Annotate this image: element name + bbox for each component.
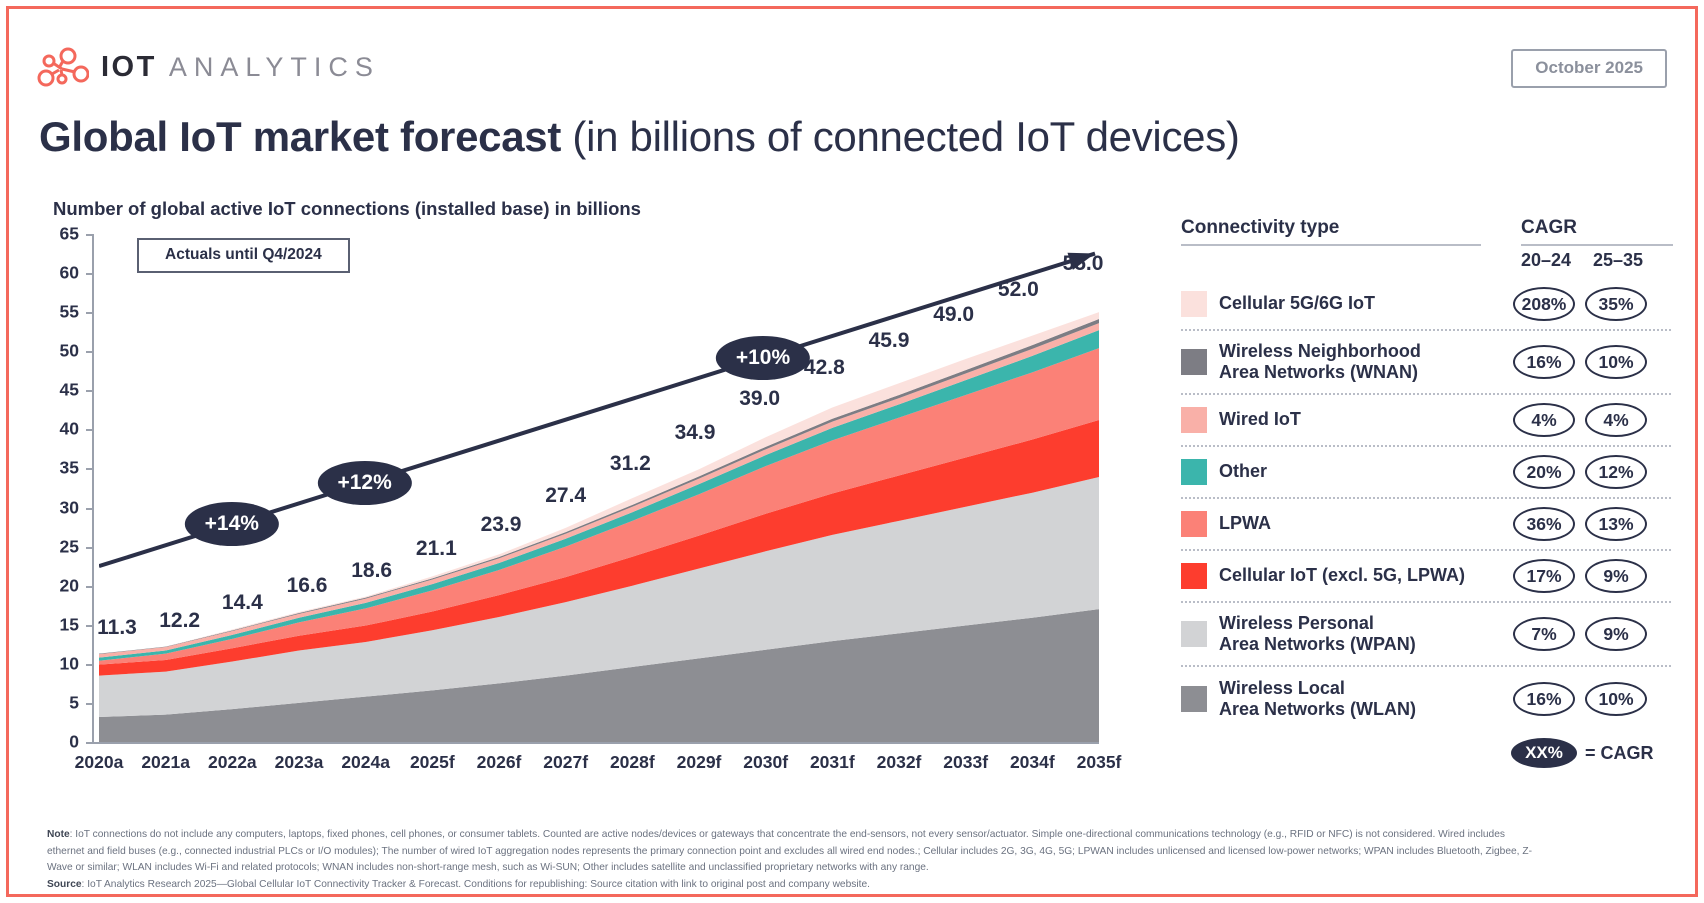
iot-analytics-logo-icon	[37, 47, 89, 87]
legend-color-swatch	[1181, 511, 1207, 537]
x-axis-tick-label: 2024a	[341, 752, 390, 773]
cagr-value-25-35: 13%	[1585, 507, 1647, 541]
x-axis-tick-label: 2027f	[543, 752, 588, 773]
logo-text-primary: IOT	[101, 51, 157, 84]
page-title-bold: Global IoT market forecast	[39, 113, 561, 160]
legend-row[interactable]: Wireless PersonalArea Networks (WPAN)7%9…	[1181, 603, 1671, 667]
y-axis-tick-mark	[86, 468, 94, 470]
stacked-area-plot	[99, 234, 1099, 742]
legend-header-rule-right	[1521, 244, 1673, 246]
x-axis-tick-label: 2025f	[410, 752, 455, 773]
cagr-value-20-24: 7%	[1513, 617, 1575, 651]
footnote-source-text: : IoT Analytics Research 2025—Global Cel…	[82, 879, 870, 890]
x-axis-tick-label: 2020a	[75, 752, 124, 773]
legend-key-label: = CAGR	[1585, 743, 1654, 764]
legend-color-swatch	[1181, 686, 1207, 712]
legend-row[interactable]: LPWA36%13%	[1181, 499, 1671, 551]
logo-text-secondary: ANALYTICS	[169, 52, 380, 83]
page-title-light: (in billions of connected IoT devices)	[561, 113, 1240, 160]
cagr-value-25-35: 35%	[1585, 287, 1647, 321]
plot-svg	[99, 234, 1099, 742]
y-axis-tick-label: 45	[45, 380, 79, 401]
y-axis-tick-mark	[86, 312, 94, 314]
legend-item-label: Cellular IoT (excl. 5G, LPWA)	[1219, 565, 1499, 586]
legend-header: Connectivity type CAGR 20–24 25–35	[1181, 217, 1671, 279]
cagr-value-20-24: 20%	[1513, 455, 1575, 489]
legend-color-swatch	[1181, 407, 1207, 433]
header: IOT ANALYTICS October 2025	[37, 43, 1667, 99]
y-axis-tick-mark	[86, 234, 94, 236]
y-axis-tick-label: 60	[45, 263, 79, 284]
cagr-value-20-24: 17%	[1513, 559, 1575, 593]
x-axis-tick-label: 2023a	[275, 752, 324, 773]
y-axis-tick-mark	[86, 547, 94, 549]
legend-item-label: Other	[1219, 461, 1499, 482]
cagr-value-25-35: 4%	[1585, 403, 1647, 437]
x-axis-tick-label: 2031f	[810, 752, 855, 773]
footnote-source: Source: IoT Analytics Research 2025—Glob…	[47, 877, 1537, 894]
legend-row[interactable]: Wired IoT4%4%	[1181, 395, 1671, 447]
legend-header-connectivity-type: Connectivity type	[1181, 217, 1339, 239]
y-axis-tick-mark	[86, 742, 94, 744]
legend-row[interactable]: Other20%12%	[1181, 447, 1671, 499]
footnote-note-label: Note	[47, 829, 70, 840]
cagr-value-20-24: 4%	[1513, 403, 1575, 437]
y-axis-tick-mark	[86, 664, 94, 666]
brand-logo: IOT ANALYTICS	[37, 47, 380, 87]
legend-header-rule-left	[1181, 244, 1481, 246]
y-axis-tick-mark	[86, 351, 94, 353]
y-axis-tick-label: 10	[45, 653, 79, 674]
y-axis-tick-label: 0	[45, 732, 79, 753]
footnote-note: Note: IoT connections do not include any…	[47, 827, 1537, 877]
chart-subtitle: Number of global active IoT connections …	[53, 198, 641, 220]
cagr-value-20-24: 36%	[1513, 507, 1575, 541]
x-axis-tick-label: 2034f	[1010, 752, 1055, 773]
x-axis-tick-label: 2026f	[477, 752, 522, 773]
y-axis-tick-mark	[86, 508, 94, 510]
chart-container: 05101520253035404550556065 11.312.214.41…	[37, 224, 1157, 794]
legend-item-label: Wired IoT	[1219, 409, 1499, 430]
legend-color-swatch	[1181, 563, 1207, 589]
y-axis-tick-mark	[86, 625, 94, 627]
footnote-note-text: : IoT connections do not include any com…	[47, 829, 1532, 873]
y-axis-tick-label: 15	[45, 614, 79, 635]
legend-rows: Cellular 5G/6G IoT208%35%Wireless Neighb…	[1181, 279, 1671, 731]
y-axis-tick-label: 5	[45, 692, 79, 713]
legend-item-label: Wireless NeighborhoodArea Networks (WNAN…	[1219, 341, 1499, 383]
cagr-value-20-24: 208%	[1513, 287, 1575, 321]
cagr-value-25-35: 12%	[1585, 455, 1647, 489]
legend-key-bubble: XX%	[1511, 738, 1577, 768]
legend-header-period-2: 25–35	[1593, 250, 1643, 271]
legend-row[interactable]: Cellular IoT (excl. 5G, LPWA)17%9%	[1181, 551, 1671, 603]
x-axis-tick-label: 2029f	[677, 752, 722, 773]
x-axis-labels: 2020a2021a2022a2023a2024a2025f2026f2027f…	[99, 752, 1099, 782]
legend-item-label: Cellular 5G/6G IoT	[1219, 293, 1499, 314]
legend-header-period-1: 20–24	[1521, 250, 1571, 271]
y-axis-tick-label: 20	[45, 575, 79, 596]
x-axis-tick-label: 2028f	[610, 752, 655, 773]
cagr-value-25-35: 10%	[1585, 345, 1647, 379]
actuals-annotation-box: Actuals until Q4/2024	[137, 238, 350, 273]
y-axis-tick-label: 50	[45, 341, 79, 362]
page-title: Global IoT market forecast (in billions …	[39, 113, 1240, 161]
legend-row[interactable]: Cellular 5G/6G IoT208%35%	[1181, 279, 1671, 331]
date-badge: October 2025	[1511, 49, 1667, 88]
x-axis-tick-label: 2032f	[877, 752, 922, 773]
poster-frame: IOT ANALYTICS October 2025 Global IoT ma…	[6, 6, 1698, 897]
legend-color-swatch	[1181, 291, 1207, 317]
footnote-source-label: Source	[47, 879, 82, 890]
legend-item-label: LPWA	[1219, 513, 1499, 534]
cagr-value-20-24: 16%	[1513, 345, 1575, 379]
x-axis-tick-label: 2035f	[1077, 752, 1122, 773]
y-axis-tick-label: 25	[45, 536, 79, 557]
y-axis-tick-mark	[86, 390, 94, 392]
legend-item-label: Wireless PersonalArea Networks (WPAN)	[1219, 613, 1499, 655]
legend-row[interactable]: Wireless LocalArea Networks (WLAN)16%10%	[1181, 667, 1671, 731]
legend-row[interactable]: Wireless NeighborhoodArea Networks (WNAN…	[1181, 331, 1671, 395]
legend-color-swatch	[1181, 459, 1207, 485]
trend-arrowhead	[1067, 253, 1095, 270]
y-axis-tick-label: 65	[45, 224, 79, 245]
y-axis-tick-label: 40	[45, 419, 79, 440]
x-axis-tick-label: 2030f	[743, 752, 788, 773]
legend: Connectivity type CAGR 20–24 25–35 Cellu…	[1181, 217, 1671, 777]
footnote: Note: IoT connections do not include any…	[47, 827, 1537, 893]
y-axis-tick-mark	[86, 273, 94, 275]
legend-color-swatch	[1181, 621, 1207, 647]
x-axis-tick-label: 2033f	[943, 752, 988, 773]
y-axis-tick-mark	[86, 429, 94, 431]
y-axis-labels: 05101520253035404550556065	[37, 234, 79, 742]
y-axis-tick-mark	[86, 586, 94, 588]
y-axis-tick-mark	[86, 703, 94, 705]
x-axis-tick-label: 2021a	[141, 752, 190, 773]
x-axis-line	[92, 742, 1099, 744]
legend-color-swatch	[1181, 349, 1207, 375]
y-axis-tick-label: 35	[45, 458, 79, 479]
cagr-value-25-35: 10%	[1585, 682, 1647, 716]
legend-item-label: Wireless LocalArea Networks (WLAN)	[1219, 678, 1499, 720]
x-axis-tick-label: 2022a	[208, 752, 257, 773]
y-axis-tick-label: 30	[45, 497, 79, 518]
y-axis-tick-label: 55	[45, 302, 79, 323]
legend-header-cagr: CAGR	[1521, 217, 1577, 239]
cagr-value-25-35: 9%	[1585, 559, 1647, 593]
cagr-value-20-24: 16%	[1513, 682, 1575, 716]
legend-cagr-key: XX% = CAGR	[1181, 731, 1671, 775]
cagr-value-25-35: 9%	[1585, 617, 1647, 651]
